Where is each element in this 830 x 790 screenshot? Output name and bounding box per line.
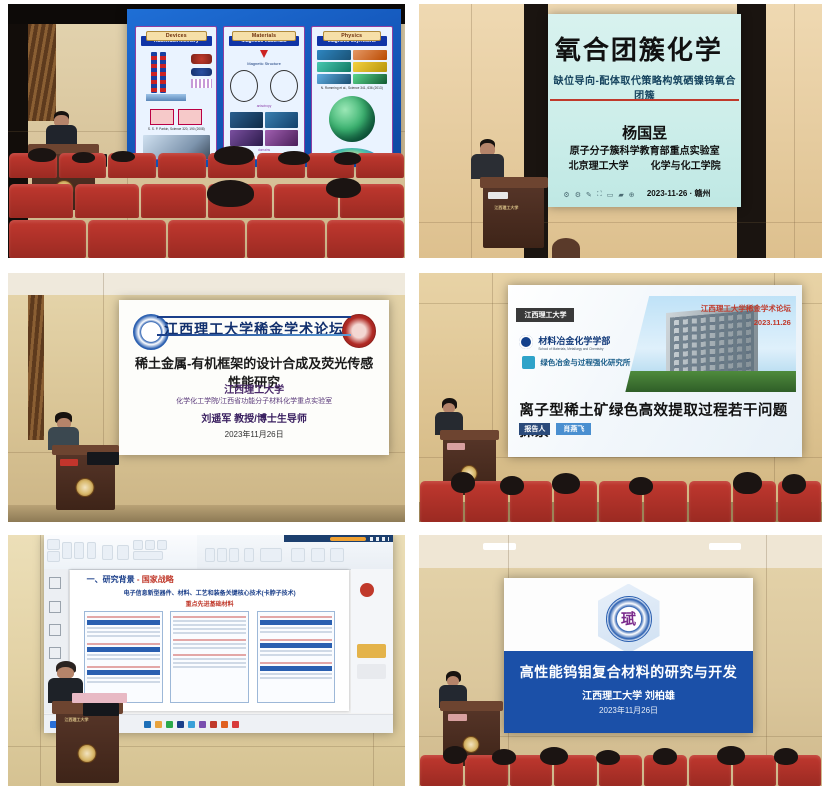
department-seal-icon (519, 335, 533, 349)
slide-heading-accent: - 国家战略 (137, 575, 174, 584)
microscopy-grid (230, 112, 297, 146)
slide-organization: 江西理工大学 (119, 381, 389, 396)
font-color-button[interactable] (133, 551, 163, 560)
panel-middle-right: 江西理工大学稀金学术论坛 2023.11.26 江西理工大学 材料冶金化学学部 … (419, 273, 822, 522)
lectern-top (440, 430, 499, 440)
speaker (471, 139, 503, 180)
slide-content: 珷 高性能钨钼复合材料的研究与开发 江西理工大学 刘柏雄 2023年11月26日 (504, 578, 754, 734)
lectern-top (440, 701, 503, 711)
presentation-toolbar[interactable]: ⚙ ⚙ ✎ ⛶ ▭ ▰ ⊕ (563, 191, 634, 199)
audience-head (451, 472, 475, 493)
audience-head (443, 746, 467, 764)
racetrack-diagram (136, 50, 216, 106)
audience-head (28, 148, 56, 161)
projection-screen: 江西理工大学稀金学术论坛 2023.11.26 江西理工大学 材料冶金化学学部 … (508, 285, 802, 457)
panel-top-right: 氧合团簇化学 缺位导向-配体取代策略构筑硒镍钨氧合团簇 杨国昱 原子分子簇科学教… (419, 4, 822, 258)
speaker (44, 111, 80, 144)
lectern-paper (488, 192, 507, 199)
fullscreen-icon[interactable]: ⛶ (597, 191, 602, 199)
slide-canvas[interactable]: 一、研究背景 - 国家战略 电子信息新型器件、材料、工艺和装备关键核心技术(卡脖… (70, 570, 350, 712)
forum-overlay: 江西理工大学稀金学术论坛 2023.11.26 (701, 302, 791, 331)
app-icon[interactable] (221, 721, 228, 728)
app-icon[interactable] (177, 721, 184, 728)
record-icon[interactable] (360, 583, 374, 597)
audience-head (552, 473, 580, 494)
pen-icon[interactable]: ✎ (586, 191, 592, 199)
app-icon[interactable] (166, 721, 173, 728)
department-1-name: 材料冶金化学学部 (538, 334, 610, 347)
slide-affiliation: 原子分子簇科学教育部重点实验室 北京理工大学 化学与化工学院 (548, 145, 741, 174)
reporter-row: 报告人 肖燕飞 (519, 423, 591, 435)
thumbnail-2[interactable] (49, 601, 61, 613)
display-icon[interactable]: ▭ (607, 191, 614, 199)
department-2-name: 绿色冶金与过程强化研究所 (540, 357, 630, 368)
slide-upper-band: 珷 (504, 578, 754, 651)
format-painter-button[interactable] (47, 551, 60, 562)
ceiling (8, 273, 405, 295)
slide-date: 2023年11月26日 (504, 705, 754, 716)
reporter-label: 报告人 (519, 423, 550, 435)
font-group-button[interactable] (102, 545, 113, 560)
lecture-hall-scene: 江西理工大学稀金学术论坛 2023.11.26 江西理工大学 材料冶金化学学部 … (419, 273, 822, 522)
slide-date: 2023年11月26日 (119, 429, 389, 440)
reset-button[interactable] (87, 542, 97, 559)
column-tab-physics: Physics (323, 31, 381, 41)
quick-styles-button[interactable] (229, 548, 239, 562)
spin-diagrams (224, 70, 304, 102)
citation-devices: S. S. P. Parkin, Science 320, 190 (2008) (136, 127, 216, 131)
poster-column-materials: Materials Magnetic materials Magnetic St… (223, 26, 305, 160)
bold-button[interactable] (133, 540, 143, 550)
app-icon[interactable] (210, 721, 217, 728)
magnetic-structure-caption: Magnetic Structure (224, 61, 304, 66)
thumbnail-4[interactable] (49, 647, 61, 659)
slide-lower-band: 高性能钨钼复合材料的研究与开发 江西理工大学 刘柏雄 2023年11月26日 (504, 651, 754, 733)
foliage (625, 371, 796, 392)
affiliation-line-1: 原子分子簇科学教育部重点实验室 (548, 145, 741, 160)
new-slide-button[interactable] (62, 542, 72, 559)
lectern-top (480, 177, 548, 188)
gear-icon[interactable]: ⚙ (563, 191, 569, 199)
gear-icon[interactable]: ⚙ (575, 191, 581, 199)
wood-slat-panel (28, 295, 44, 439)
app-icon[interactable] (232, 721, 239, 728)
poster-columns: Devices Racetrack memory (135, 26, 393, 160)
department-2: 绿色冶金与过程强化研究所 (522, 356, 630, 369)
slide-organization: 江西理工大学 刘柏雄 (504, 687, 754, 702)
underline-button[interactable] (157, 540, 167, 550)
panel-middle-left: 江西理工大学稀金学术论坛 稀土金属-有机框架的设计合成及荧光传感性能研究 江西理… (8, 273, 405, 522)
affiliation-line-3: 化学与化工学院 (651, 160, 721, 175)
audience-head (596, 750, 620, 765)
projection-screen: 江西理工大学稀金学术论坛 稀土金属-有机框架的设计合成及荧光传感性能研究 江西理… (119, 300, 389, 454)
pointer-icon[interactable]: ▰ (618, 191, 623, 199)
slide-content: 江西理工大学稀金学术论坛 2023.11.26 江西理工大学 材料冶金化学学部 … (508, 285, 802, 457)
skyrmion-sphere (329, 96, 375, 142)
header-rule-top (157, 316, 351, 318)
slide-content: 江西理工大学稀金学术论坛 稀土金属-有机框架的设计合成及荧光传感性能研究 江西理… (119, 300, 389, 454)
notification-banner[interactable] (357, 644, 386, 658)
audience-head (334, 152, 362, 165)
laptop (87, 452, 119, 464)
replace-button[interactable] (311, 548, 325, 562)
paste-button[interactable] (47, 539, 60, 550)
wall-seam (40, 535, 41, 786)
panel-bottom-right: 珷 高性能钨钼复合材料的研究与开发 江西理工大学 刘柏雄 2023年11月26日 (419, 535, 822, 786)
slide-column-right (257, 611, 336, 703)
institute-icon (522, 356, 535, 369)
audience-seating (419, 746, 822, 786)
slide-column-left (84, 611, 163, 703)
ribbon-left-group[interactable] (44, 535, 198, 569)
ceiling-light (483, 543, 515, 551)
poster-column-physics: Physics Magnetic skyrmions N. Romming et (311, 26, 393, 160)
slide-title: 氧合团簇化学 (548, 30, 730, 67)
building-photo: 江西理工大学稀金学术论坛 2023.11.26 (625, 296, 796, 392)
lecture-hall-scene: 江西理工大学稀金学术论坛 稀土金属-有机框架的设计合成及荧光传感性能研究 江西理… (8, 273, 405, 522)
anisotropy-label: anisotropy (224, 104, 304, 108)
audience-head (629, 477, 653, 495)
lectern: 江西理工大学 (483, 177, 543, 248)
wall-seam-horizontal (419, 222, 822, 223)
audience-head (207, 180, 255, 207)
wall-seam (471, 4, 472, 258)
slide-heading-text: 一、研究背景 (87, 575, 135, 584)
slide-content-columns (84, 611, 336, 703)
lecture-hall-scene: 珷 高性能钨钼复合材料的研究与开发 江西理工大学 刘柏雄 2023年11月26日 (419, 535, 822, 786)
thumbnail-3[interactable] (49, 624, 61, 636)
audience-head (326, 178, 362, 198)
projection-screen: Devices Racetrack memory (127, 9, 401, 166)
thumbnail-1[interactable] (49, 577, 61, 589)
org-tag: 江西理工大学 (516, 308, 574, 322)
speaker-body (471, 154, 503, 179)
forum-header: 江西理工大学稀金学术论坛 (701, 302, 791, 316)
slide-department: 化学化工学院/江西省功能分子材料化学重点实验室 (119, 396, 389, 406)
italic-button[interactable] (145, 540, 155, 550)
audience-head (111, 151, 135, 162)
laptop (83, 703, 119, 716)
lectern-name-plate (448, 714, 467, 721)
audience-head (500, 476, 524, 495)
slide-heading: 一、研究背景 - 国家战略 (87, 574, 174, 585)
lectern-emblem (78, 744, 97, 763)
window-controls[interactable] (370, 537, 390, 540)
department-1: 材料冶金化学学部 School of Materials, Metallurgy… (519, 334, 610, 351)
find-button[interactable] (291, 548, 305, 562)
hexagon-university-crest-icon: 珷 (598, 584, 660, 654)
shape-fill-button[interactable] (244, 548, 254, 562)
lectern-name-plate (447, 443, 465, 450)
projection-screen: 珷 高性能钨钼复合材料的研究与开发 江西理工大学 刘柏雄 2023年11月26日 (504, 578, 754, 734)
sign-in-badge[interactable] (330, 537, 365, 541)
lectern-university-text: 江西理工大学 (494, 205, 518, 211)
poster-column-devices: Devices Racetrack memory (135, 26, 217, 160)
ceiling (419, 535, 822, 568)
header-rule-bottom (157, 334, 351, 336)
arrange-button[interactable] (217, 548, 227, 562)
ribbon[interactable] (44, 535, 393, 570)
audience-head (214, 146, 254, 165)
down-arrow-icon (260, 50, 268, 58)
ceiling-light (709, 543, 741, 551)
slide-speaker: 刘遥军 教授/博士生导师 (119, 410, 389, 425)
wall-seam (794, 4, 795, 258)
slide-author: 杨国昱 (548, 122, 741, 143)
lecture-hall-scene: 一、研究背景 - 国家战略 电子信息新型器件、材料、工艺和装备关键核心技术(卡脖… (8, 535, 405, 786)
slide-column-center (170, 611, 249, 703)
audience-head (653, 748, 677, 765)
university-seal: 珷 (606, 596, 652, 642)
lectern-name-plate (60, 459, 78, 466)
forum-date: 2023.11.26 (701, 316, 791, 330)
slide-line-3: 重点先进基础材料 (98, 599, 322, 608)
audience-head (782, 474, 806, 494)
chip-diagram (136, 109, 216, 125)
affiliation-line-2: 北京理工大学 (569, 160, 629, 175)
audience-head (278, 151, 310, 166)
design-ideas-pane[interactable] (351, 569, 393, 714)
lectern-papers (72, 693, 128, 703)
audience-head (733, 472, 761, 494)
department-1-subtitle: School of Materials, Metallurgy and Chem… (538, 347, 610, 351)
divider-rule (550, 99, 740, 101)
column-tab-materials: Materials (232, 31, 296, 41)
audience-head (552, 238, 580, 258)
audience-head (774, 748, 798, 765)
slide-date: 2023-11-26 · 赣州 (647, 188, 711, 199)
lecture-hall-scene: Devices Racetrack memory (8, 4, 405, 258)
audience-seating (8, 146, 405, 258)
slide-title: 高性能钨钼复合材料的研究与开发 (514, 662, 744, 682)
panel-top-left: Devices Racetrack memory (8, 4, 405, 258)
audience-head (717, 746, 745, 765)
slide-line-2: 电子信息新型器件、材料、工艺和装备关键核心技术(卡脖子技术) (98, 588, 322, 597)
citation-physics: N. Romming et al., Science 341, 636 (201… (312, 86, 392, 90)
lecture-hall-scene: 氧合团簇化学 缺位导向-配体取代策略构筑硒镍钨氧合团簇 杨国昱 原子分子簇科学教… (419, 4, 822, 258)
audience-head (492, 749, 516, 765)
audience-head (72, 152, 96, 163)
audience-seating (419, 472, 822, 522)
lectern-emblem (76, 478, 95, 497)
lectern-university-text: 江西理工大学 (65, 717, 89, 723)
settings-icon[interactable]: ⊕ (629, 191, 635, 199)
reporter-name: 肖燕飞 (556, 423, 591, 435)
slide-subtitle: 缺位导向-配体取代策略构筑硒镍钨氧合团簇 (552, 72, 738, 102)
app-icon[interactable] (188, 721, 195, 728)
speaker-body (46, 125, 77, 143)
editing-group-button[interactable] (260, 548, 282, 562)
photo-collage: Devices Racetrack memory (0, 0, 830, 790)
toolbar-strip[interactable] (357, 664, 386, 678)
layout-button[interactable] (74, 542, 84, 559)
paragraph-group-button[interactable] (117, 545, 128, 560)
slide-content: 氧合团簇化学 缺位导向-配体取代策略构筑硒镍钨氧合团簇 杨国昱 原子分子簇科学教… (548, 14, 741, 207)
column-tab-devices: Devices (146, 31, 207, 41)
slide-content: Devices Racetrack memory (127, 9, 401, 166)
projection-screen: 氧合团簇化学 缺位导向-配体取代策略构筑硒镍钨氧合团簇 杨国昱 原子分子簇科学教… (548, 14, 741, 207)
wall-dark-column (737, 4, 765, 258)
shapes-button[interactable] (205, 548, 215, 562)
app-icon[interactable] (155, 721, 162, 728)
app-icon[interactable] (144, 721, 151, 728)
ribbon-right-group[interactable] (197, 535, 393, 569)
audience-head (540, 747, 568, 765)
app-icon[interactable] (199, 721, 206, 728)
select-button[interactable] (330, 548, 344, 562)
skyrmion-image-grid (317, 50, 387, 84)
slide-banner (127, 11, 401, 17)
panel-bottom-left: 一、研究背景 - 国家战略 电子信息新型器件、材料、工艺和装备关键核心技术(卡脖… (8, 535, 405, 786)
